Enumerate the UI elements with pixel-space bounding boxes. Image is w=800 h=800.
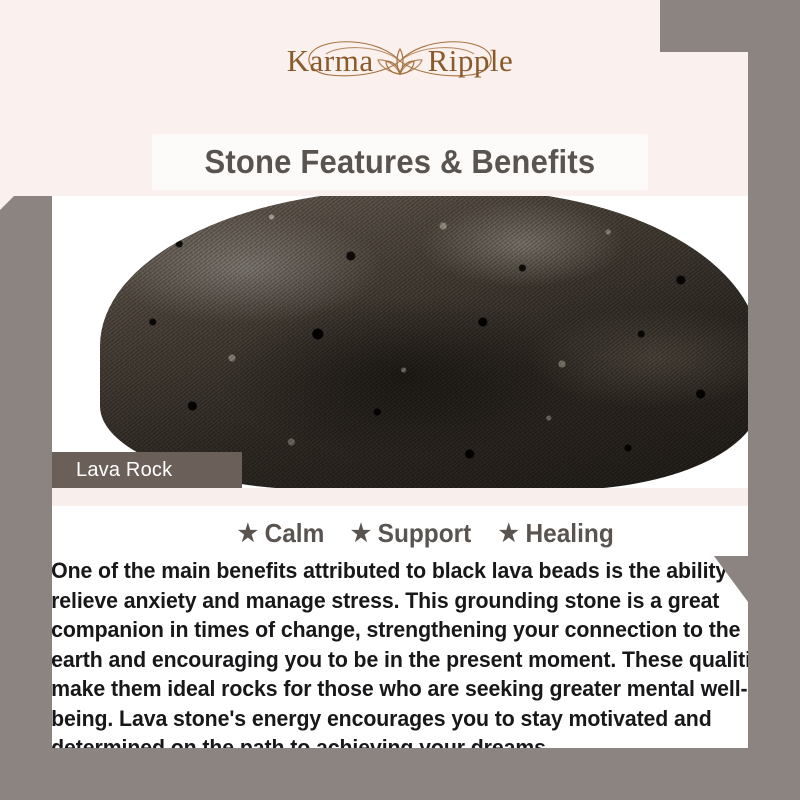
brand-logo: Karma Ripple (250, 32, 550, 90)
star-icon: ★ (237, 522, 257, 546)
frame-top-right-corner (660, 0, 800, 52)
description-paragraph: One of the main benefits attributed to b… (32, 556, 792, 763)
benefit-item-support: ★ Support (351, 518, 471, 549)
star-icon: ★ (351, 522, 371, 546)
title-panel: Stone Features & Benefits (152, 134, 648, 190)
poster-root: Karma Ripple Stone Features & Benefits L… (0, 0, 800, 800)
brand-wordmark: Karma Ripple (287, 43, 514, 79)
lava-rock-photo (52, 196, 800, 488)
photo-caption-bar: Lava Rock (20, 452, 242, 489)
benefit-label: Calm (264, 518, 324, 549)
page-title: Stone Features & Benefits (205, 143, 596, 181)
benefit-item-healing: ★ Healing (499, 518, 614, 549)
star-icon: ★ (499, 522, 519, 546)
content-panel: ★ Calm ★ Support ★ Healing One of the ma… (52, 506, 800, 748)
benefit-label: Healing (525, 518, 613, 549)
benefits-row: ★ Calm ★ Support ★ Healing (52, 506, 800, 549)
photo-caption-label: Lava Rock (76, 459, 172, 482)
lava-rock-subject (100, 196, 760, 488)
brand-name-right: Ripple (428, 43, 514, 79)
frame-left-edge (0, 196, 52, 800)
benefit-item-calm: ★ Calm (237, 518, 324, 549)
frame-right-edge (748, 0, 800, 800)
photo-bottom-strip (52, 488, 800, 506)
benefit-label: Support (377, 518, 471, 549)
brand-name-left: Karma (287, 43, 374, 79)
frame-bottom-edge (0, 748, 800, 800)
